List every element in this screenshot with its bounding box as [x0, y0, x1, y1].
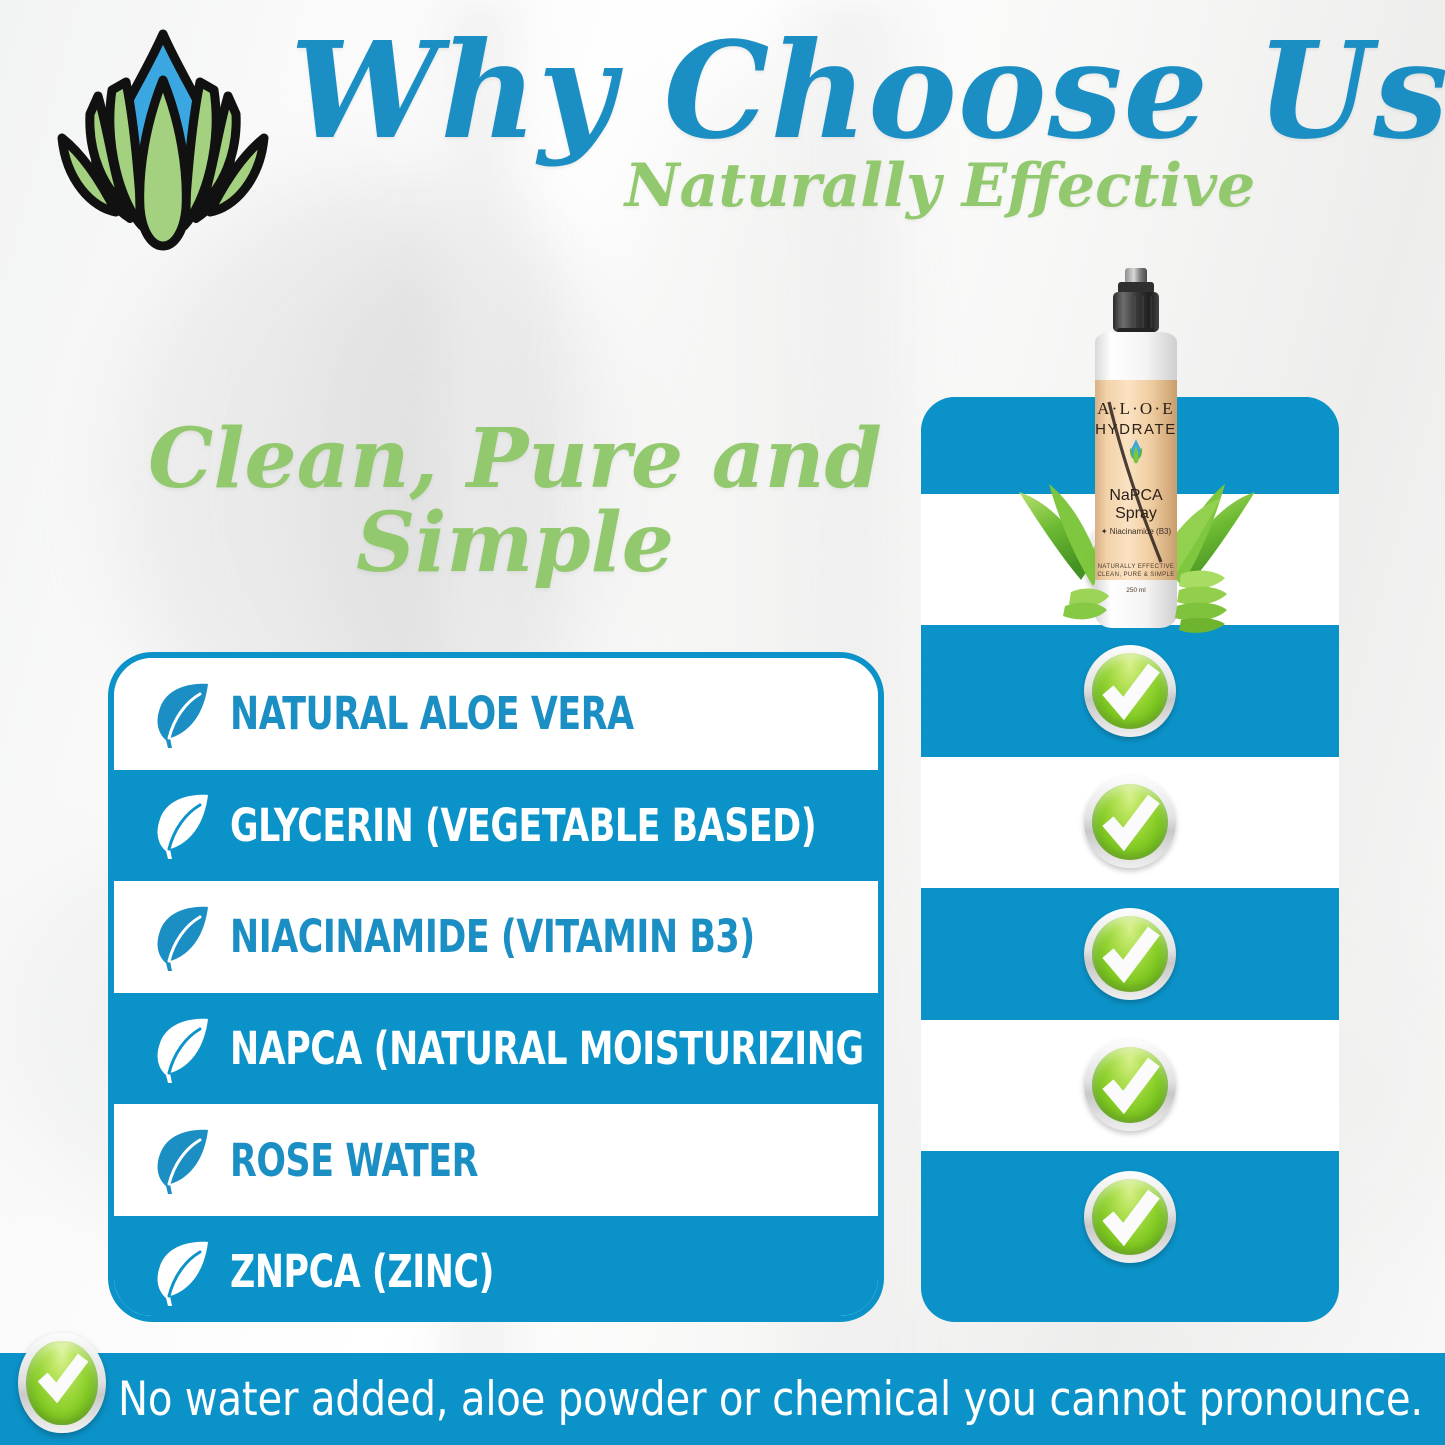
svg-text:HYDRATE: HYDRATE — [1095, 421, 1177, 438]
leaf-icon — [150, 678, 216, 750]
ingredient-label: NAPCA (NATURAL MOISTURIZING FACTOR) — [230, 1026, 884, 1071]
checkmark-row — [921, 1020, 1339, 1151]
ingredient-row: GLYCERIN (VEGETABLE BASED) — [114, 770, 878, 882]
checkmark-row — [921, 1151, 1339, 1282]
svg-text:250 ml: 250 ml — [1126, 587, 1146, 594]
ingredient-row: NAPCA (NATURAL MOISTURIZING FACTOR) — [114, 993, 878, 1105]
leaf-icon — [150, 789, 216, 861]
tagline: Clean, Pure and Simple — [130, 418, 900, 585]
header: Why Choose Us? Naturally Effective — [290, 22, 1410, 216]
footer-text: No water added, aloe powder or chemical … — [118, 1372, 1423, 1427]
green-check-badge-icon — [1084, 908, 1176, 1000]
ingredient-label: NIACINAMIDE (VITAMIN B3) — [230, 914, 755, 959]
ingredient-label: NATURAL ALOE VERA — [230, 691, 634, 736]
svg-text:CLEAN, PURE & SIMPLE: CLEAN, PURE & SIMPLE — [1097, 572, 1174, 578]
page-title: Why Choose Us? — [290, 22, 1410, 162]
green-check-badge-icon — [1084, 1039, 1176, 1131]
green-check-badge-icon — [1084, 776, 1176, 868]
ingredient-label: GLYCERIN (VEGETABLE BASED) — [230, 803, 816, 848]
poster-root: Why Choose Us? Naturally Effective Clean… — [0, 0, 1445, 1445]
ingredient-row: ROSE WATER — [114, 1104, 878, 1216]
checkmark-row — [921, 888, 1339, 1019]
leaf-icon — [150, 1013, 216, 1085]
checkmark-row — [921, 757, 1339, 888]
leaf-icon — [150, 901, 216, 973]
green-check-badge-icon — [1084, 1171, 1176, 1263]
svg-text:A·L·O·E: A·L·O·E — [1097, 399, 1175, 418]
ingredient-row: ZNPCA (ZINC) — [114, 1216, 878, 1322]
green-check-badge-icon — [18, 1333, 106, 1433]
ingredient-list-card: NATURAL ALOE VERAGLYCERIN (VEGETABLE BAS… — [108, 652, 884, 1322]
leaf-icon — [150, 1124, 216, 1196]
ingredient-label: ZNPCA (ZINC) — [230, 1249, 494, 1294]
spray-bottle-icon: A·L·O·E HYDRATE NaPCA Spray ✦ Niacinamid… — [985, 262, 1285, 662]
aloe-leaf-waterdrop-logo-icon — [38, 18, 288, 268]
leaf-icon — [150, 1236, 216, 1308]
svg-text:NaPCA: NaPCA — [1109, 487, 1163, 504]
footer-bar: No water added, aloe powder or chemical … — [0, 1353, 1445, 1445]
svg-text:Spray: Spray — [1115, 505, 1157, 522]
svg-text:NATURALLY EFFECTIVE: NATURALLY EFFECTIVE — [1098, 564, 1175, 570]
ingredient-label: ROSE WATER — [230, 1138, 478, 1183]
svg-text:✦ Niacinamide (B3): ✦ Niacinamide (B3) — [1101, 527, 1172, 536]
ingredient-row: NIACINAMIDE (VITAMIN B3) — [114, 881, 878, 993]
ingredient-row: NATURAL ALOE VERA — [114, 658, 878, 770]
